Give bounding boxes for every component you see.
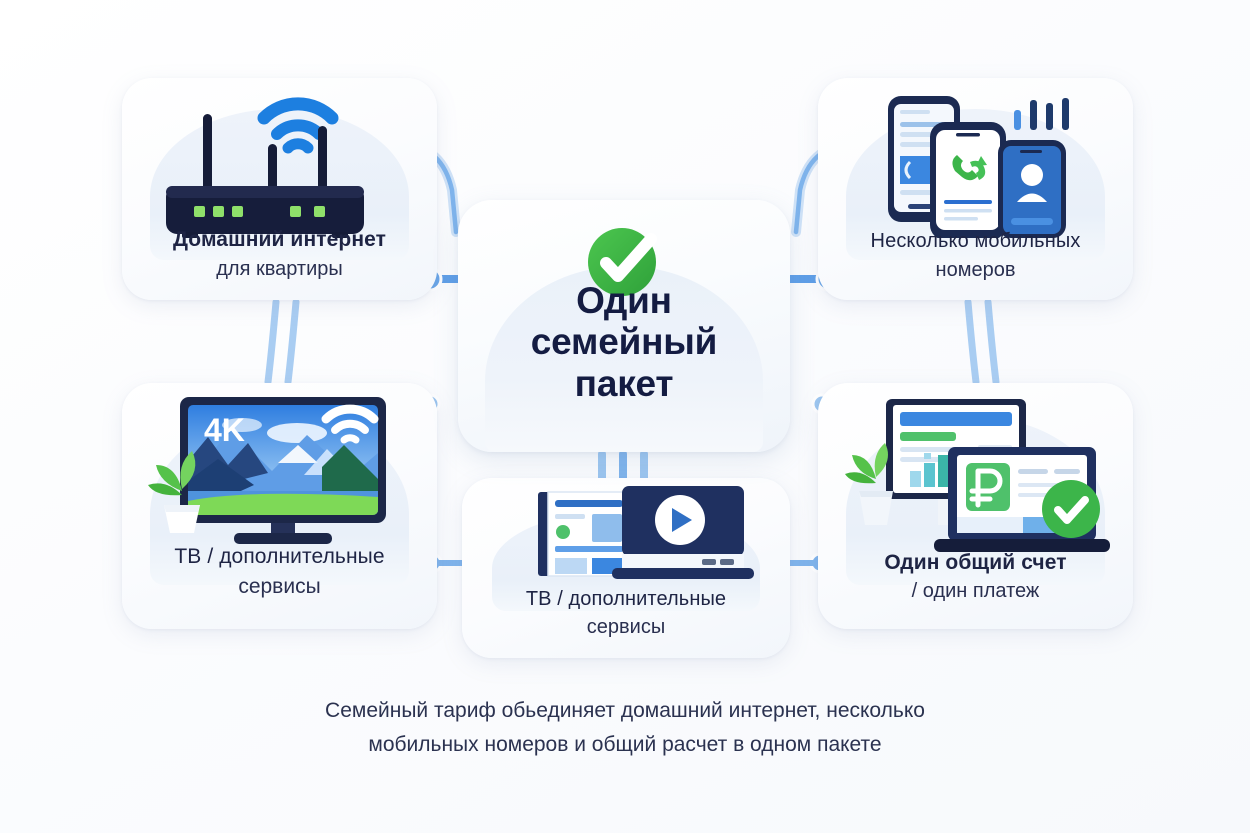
- card-subtitle: для квартиры: [130, 258, 429, 281]
- center-title-line-1: Один: [458, 280, 790, 321]
- card-title: ТВ / дополнительные: [470, 588, 782, 611]
- tv-4k-icon: 4K: [122, 383, 437, 558]
- card-labels: Несколько мобильных номеров: [826, 230, 1125, 282]
- svg-text:4K: 4K: [204, 412, 245, 448]
- connector-left-vert-b: [288, 302, 296, 382]
- multiple-phones-icon: [818, 78, 1133, 238]
- card-mobile-numbers[interactable]: Несколько мобильных номеров: [818, 78, 1133, 300]
- center-title-line-2: семейный: [458, 321, 790, 362]
- card-extra-services[interactable]: ТВ / дополнительные сервисы: [462, 478, 790, 658]
- card-labels: Один общий счет / один платеж: [826, 551, 1125, 603]
- card-title: Один общий счет: [826, 551, 1125, 575]
- card-title: Несколько мобильных: [826, 230, 1125, 253]
- card-labels: ТВ / дополнительные сервисы: [130, 545, 429, 599]
- connector-right-vert-a: [968, 302, 976, 382]
- video-player-icon: [462, 478, 790, 593]
- connector-right-vert-b: [988, 302, 996, 382]
- caption-line-1: Семейный тариф обьединяет домашний интер…: [0, 694, 1250, 728]
- center-card-title: Один семейный пакет: [458, 280, 790, 404]
- card-home-internet[interactable]: Домашний интернет для квартиры: [122, 78, 437, 300]
- caption-line-2: мобильных номеров и общий расчет в одном…: [0, 728, 1250, 762]
- billing-laptop-icon: [818, 383, 1133, 563]
- card-title: ТВ / дополнительные: [130, 545, 429, 569]
- caption: Семейный тариф обьединяет домашний интер…: [0, 694, 1250, 762]
- card-labels: Домашний интернет для квартиры: [130, 228, 429, 281]
- card-labels: ТВ / дополнительные сервисы: [470, 588, 782, 639]
- wifi-router-icon: [122, 78, 437, 238]
- card-subtitle: номеров: [826, 259, 1125, 282]
- card-subtitle: сервисы: [130, 575, 429, 599]
- card-single-account[interactable]: Один общий счет / один платеж: [818, 383, 1133, 629]
- card-family-package[interactable]: Один семейный пакет: [458, 200, 790, 452]
- card-subtitle: / один платеж: [826, 580, 1125, 603]
- infographic-canvas: Домашний интернет для квартиры: [0, 0, 1250, 833]
- center-title-line-3: пакет: [458, 363, 790, 404]
- card-subtitle: сервисы: [470, 616, 782, 639]
- card-tv-services[interactable]: 4K ТВ / дополнительные сервисы: [122, 383, 437, 629]
- card-title: Домашний интернет: [130, 228, 429, 252]
- connector-left-vert-a: [268, 302, 276, 382]
